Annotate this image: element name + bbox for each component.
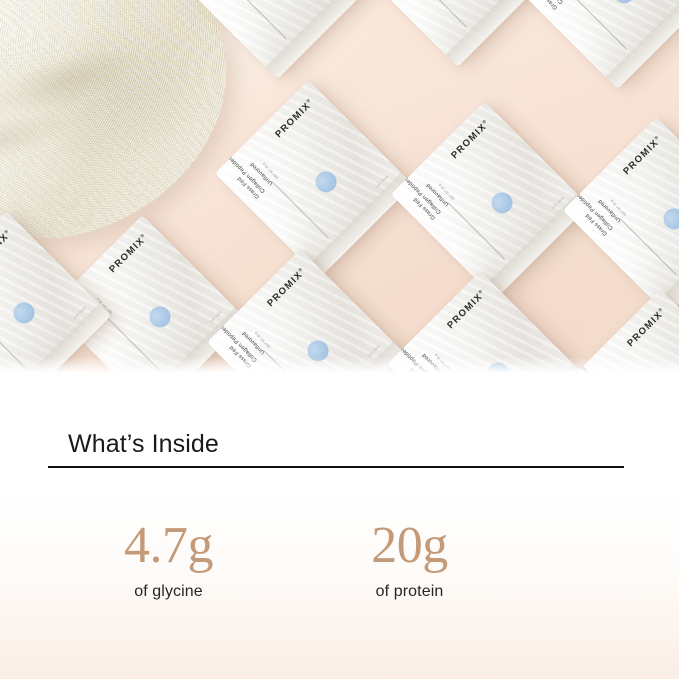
packet-lot-code: LOT 0824 <box>209 310 223 324</box>
packet-blue-dot-icon <box>659 204 679 234</box>
packet-blue-dot-icon <box>487 188 517 218</box>
trademark-symbol: ® <box>139 233 145 239</box>
packet-blue-dot-icon <box>311 167 341 197</box>
trademark-symbol: ® <box>297 267 303 273</box>
photo-bottom-fade <box>0 357 679 373</box>
nutrition-stat: 20gof protein <box>289 520 530 601</box>
packet-lot-code: LOT 0824 <box>375 175 389 189</box>
stat-value: 4.7g <box>48 520 289 572</box>
section-heading: What’s Inside <box>68 431 219 459</box>
stat-label: of protein <box>289 583 530 601</box>
packet-blue-dot-icon <box>9 298 39 328</box>
product-marketing-image: PROMIX®Grass FedCollagen PeptidesUnflavo… <box>0 0 679 679</box>
nutrition-stat: 4.7gof glycine <box>48 520 289 601</box>
stat-label: of glycine <box>48 583 289 601</box>
stat-value: 20g <box>289 520 530 572</box>
packet-divider-rule <box>410 0 467 27</box>
trademark-symbol: ® <box>305 98 311 104</box>
packet-blue-dot-icon <box>609 0 639 8</box>
packet-divider-rule <box>230 0 287 39</box>
packet-lot-code: LOT 0824 <box>551 196 565 210</box>
trademark-symbol: ® <box>477 289 483 295</box>
product-photo: PROMIX®Grass FedCollagen PeptidesUnflavo… <box>0 0 679 373</box>
trademark-symbol: ® <box>481 119 487 125</box>
packet-lot-code: LOT 0824 <box>73 306 87 320</box>
packet-divider-rule <box>570 0 627 49</box>
heading-divider <box>48 466 624 468</box>
nutrition-stats: 4.7gof glycine20gof protein <box>48 520 624 601</box>
trademark-symbol: ® <box>3 229 9 235</box>
trademark-symbol: ® <box>653 135 659 141</box>
trademark-symbol: ® <box>657 307 663 313</box>
packet-brand-logo: PROMIX® <box>0 229 14 271</box>
packet-lot-code: LOT 0824 <box>367 344 381 358</box>
packet-blue-dot-icon <box>145 302 175 332</box>
